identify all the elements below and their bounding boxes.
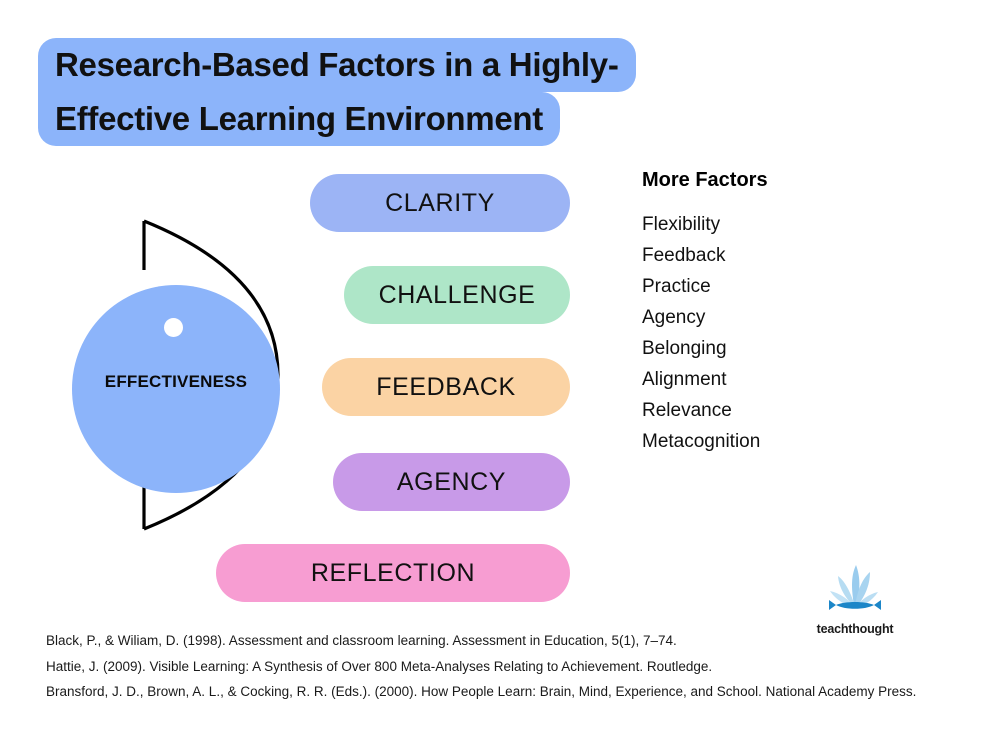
more-factor-item: Agency: [642, 302, 942, 333]
more-factor-item: Metacognition: [642, 426, 942, 457]
more-factor-item: Alignment: [642, 364, 942, 395]
page-title-line-1: Research-Based Factors in a Highly-: [38, 38, 636, 92]
citations-list: Black, P., & Wiliam, D. (1998). Assessme…: [46, 628, 956, 705]
page-title: Research-Based Factors in a Highly- Effe…: [38, 38, 718, 146]
teachthought-mark-icon: [823, 560, 887, 616]
more-factor-item: Belonging: [642, 333, 942, 364]
more-factor-item: Feedback: [642, 240, 942, 271]
page-title-line-2: Effective Learning Environment: [38, 92, 560, 146]
more-factors-list: FlexibilityFeedbackPracticeAgencyBelongi…: [642, 209, 942, 457]
effectiveness-label: EFFECTIVENESS: [72, 372, 280, 392]
more-factors-heading: More Factors: [642, 169, 942, 192]
factor-pill: FEEDBACK: [322, 358, 570, 416]
more-factors-panel: More Factors FlexibilityFeedbackPractice…: [642, 169, 942, 457]
factor-pill: CHALLENGE: [344, 266, 570, 324]
factor-pill-label: FEEDBACK: [376, 373, 516, 402]
factor-pill: REFLECTION: [216, 544, 570, 602]
teachthought-wordmark: teachthought: [800, 622, 910, 636]
effectiveness-dot-icon: [164, 318, 183, 337]
citation-line: Hattie, J. (2009). Visible Learning: A S…: [46, 654, 956, 680]
logo-fan-shape: [830, 565, 878, 607]
factor-pill-label: REFLECTION: [311, 559, 475, 588]
more-factor-item: Relevance: [642, 395, 942, 426]
factor-pill: AGENCY: [333, 453, 570, 511]
factor-pill-label: AGENCY: [397, 468, 506, 497]
more-factor-item: Practice: [642, 271, 942, 302]
teachthought-logo: teachthought: [800, 560, 910, 636]
more-factor-item: Flexibility: [642, 209, 942, 240]
citation-line: Bransford, J. D., Brown, A. L., & Cockin…: [46, 679, 956, 705]
factor-pill: CLARITY: [310, 174, 570, 232]
effectiveness-diagram: EFFECTIVENESS: [60, 200, 320, 550]
factor-pill-label: CLARITY: [385, 189, 495, 218]
factor-pill-label: CHALLENGE: [379, 281, 536, 310]
